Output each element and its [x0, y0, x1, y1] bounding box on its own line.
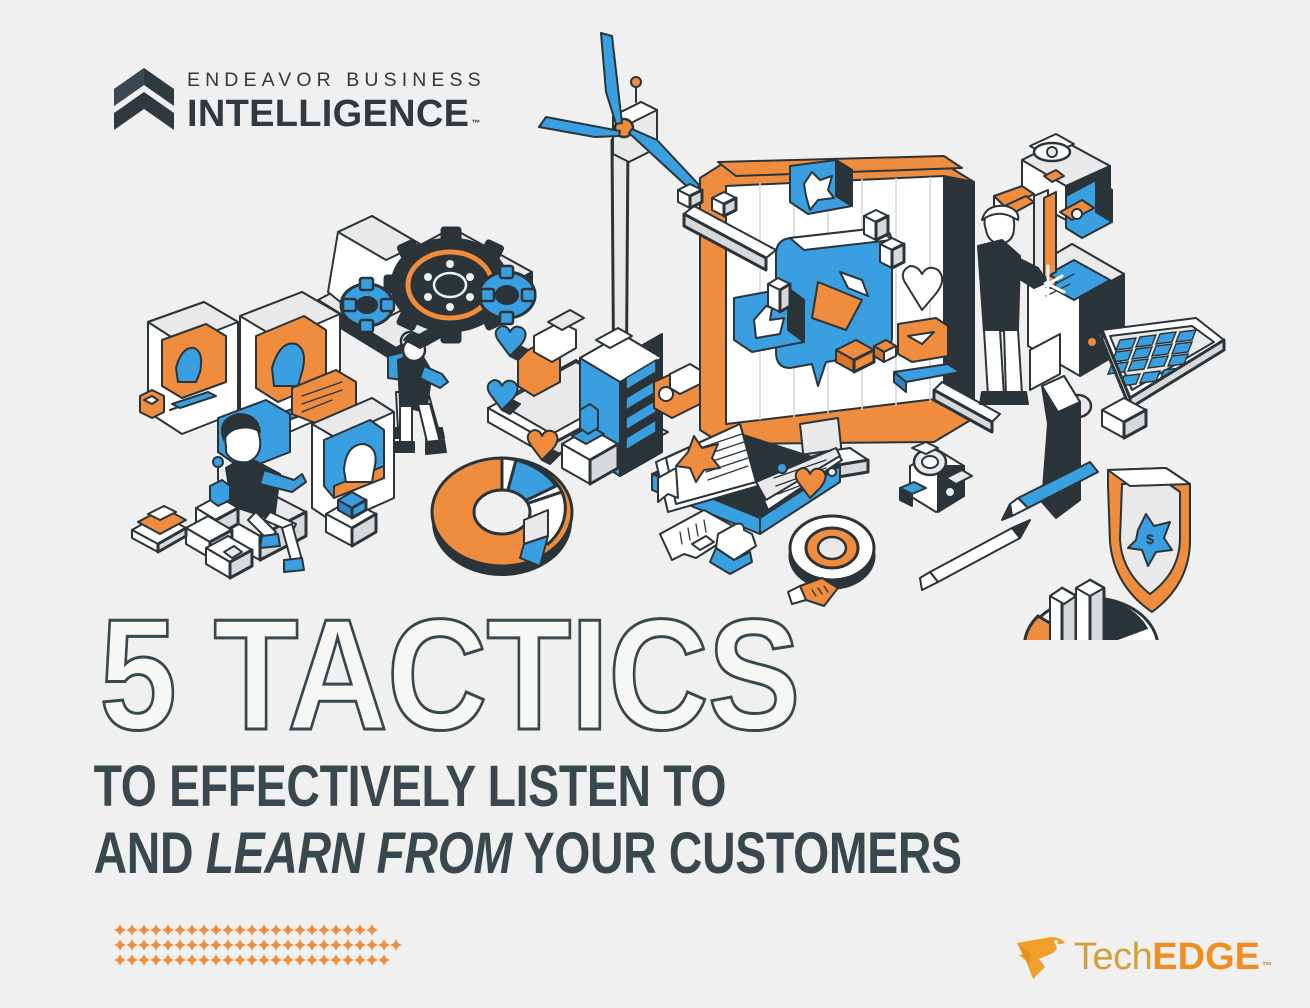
heart-icon-blue-1: [496, 326, 528, 360]
solar-panel: [1102, 318, 1224, 408]
small-orange-chip: [140, 390, 164, 418]
chevron-stack-icon: [112, 66, 176, 132]
bird-icon: [1015, 933, 1071, 981]
grey-box-small: [1102, 398, 1146, 438]
headline-outline-title: 5 TACTICS: [0, 608, 1153, 744]
subheadline-line-1: TO EFFECTIVELY LISTEN TO: [0, 758, 1048, 816]
techedge-trademark-symbol: ™: [1262, 961, 1272, 972]
subheadline-suffix: YOUR CUSTOMERS: [512, 821, 962, 886]
subheadline-italic: LEARN FROM: [206, 821, 512, 886]
pressure-gauge-valve: [900, 442, 972, 512]
cover-page: .ln { fill:none; stroke:#2b3439; stroke-…: [0, 0, 1310, 1008]
seated-person-workstation: [186, 400, 306, 578]
orange-star-dot-pattern: [114, 922, 420, 970]
trademark-symbol: ™: [471, 118, 480, 128]
subheadline-prefix: AND: [94, 821, 206, 886]
brand-wordmark: ENDEAVOR BUSINESS INTELLIGENCE ™: [187, 71, 486, 132]
brand-line-primary: ENDEAVOR BUSINESS: [187, 71, 486, 91]
envelope-card-orange: [898, 318, 948, 362]
techedge-logo: Tech EDGE ™: [1015, 933, 1272, 981]
small-book-icon: [132, 506, 186, 552]
headline-block: 5 TACTICS TO EFFECTIVELY LISTEN TO AND L…: [0, 608, 1310, 883]
techedge-word-light: Tech: [1074, 936, 1152, 979]
brand-line-secondary: INTELLIGENCE: [187, 96, 469, 132]
techedge-word-bold: EDGE: [1152, 936, 1260, 979]
svg-text:$: $: [1146, 531, 1154, 547]
shield-badge: $: [1108, 468, 1190, 612]
subheadline-line-2: AND LEARN FROM YOUR CUSTOMERS: [0, 825, 1048, 883]
donut-chart: [432, 458, 572, 576]
brand-logo: ENDEAVOR BUSINESS INTELLIGENCE ™: [112, 66, 486, 132]
tape-measure: [788, 516, 874, 606]
techedge-wordmark: Tech EDGE ™: [1074, 936, 1272, 979]
star-card-blue: [790, 160, 852, 214]
heart-icon-orange: [528, 430, 560, 464]
